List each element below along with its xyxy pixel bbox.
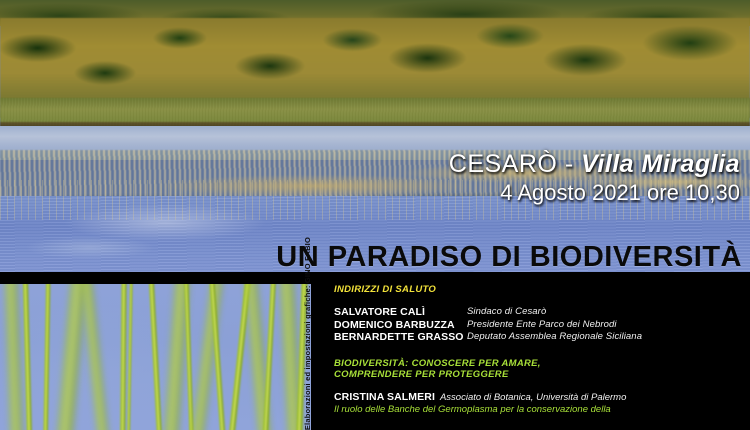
- divider-band: [0, 272, 750, 284]
- event-venue: Villa Miraglia: [581, 150, 740, 178]
- list-item: SALVATORE CALÌ Sindaco di Cesarò: [334, 306, 750, 319]
- session-heading: BIODIVERSITÀ: CONOSCERE PER AMARE, COMPR…: [334, 358, 750, 380]
- person-name: SALVATORE CALÌ: [334, 306, 467, 319]
- list-item: CRISTINA SALMERIAssociato di Botanica, U…: [334, 389, 750, 404]
- bottom-section: Elaborazioni ed impostazioni grafiche: G…: [0, 284, 750, 430]
- event-location: CESARÒ - Villa Miraglia: [449, 150, 740, 179]
- greetings-list: SALVATORE CALÌ Sindaco di Cesarò DOMENIC…: [334, 306, 750, 344]
- session-heading-line1: BIODIVERSITÀ: CONOSCERE PER AMARE,: [334, 358, 541, 369]
- event-separator: -: [557, 150, 581, 178]
- speaker-topic-clipped: Il ruolo delle Banche del Germoplasma pe…: [334, 404, 750, 414]
- speaker-topic: Il ruolo delle Banche del Germoplasma pe…: [334, 404, 750, 414]
- person-name: BERNARDETTE GRASSO: [334, 331, 467, 344]
- speaker-affiliation: Associato di Botanica, Università di Pal…: [440, 392, 626, 403]
- hero-landscape-photo: CESARÒ - Villa Miraglia 4 Agosto 2021 or…: [0, 0, 750, 272]
- event-city: CESARÒ: [449, 150, 558, 178]
- reeds-closeup-photo: [0, 284, 311, 430]
- graphic-credit: Elaborazioni ed impostazioni grafiche: G…: [299, 284, 315, 430]
- session-heading-line2: COMPRENDERE PER PROTEGGERE: [334, 369, 750, 380]
- event-date: 4 Agosto 2021 ore 10,30: [500, 180, 740, 206]
- graphic-credit-text: Elaborazioni ed impostazioni grafiche: G…: [303, 235, 312, 430]
- person-role: Presidente Ente Parco dei Nebrodi: [467, 319, 617, 332]
- poster: CESARÒ - Villa Miraglia 4 Agosto 2021 or…: [0, 0, 750, 430]
- page-title: UN PARADISO DI BIODIVERSITÀ: [276, 241, 742, 272]
- greetings-heading: INDIRIZZI DI SALUTO: [334, 284, 750, 295]
- speaker-list: CRISTINA SALMERIAssociato di Botanica, U…: [334, 389, 750, 414]
- program-info-column: INDIRIZZI DI SALUTO SALVATORE CALÌ Sinda…: [334, 284, 750, 430]
- person-role: Sindaco di Cesarò: [467, 306, 546, 319]
- list-item: BERNARDETTE GRASSO Deputato Assemblea Re…: [334, 331, 750, 344]
- speaker-name: CRISTINA SALMERI: [334, 391, 435, 403]
- person-name: DOMENICO BARBUZZA: [334, 319, 467, 332]
- person-role: Deputato Assemblea Regionale Siciliana: [467, 331, 642, 344]
- list-item: DOMENICO BARBUZZA Presidente Ente Parco …: [334, 319, 750, 332]
